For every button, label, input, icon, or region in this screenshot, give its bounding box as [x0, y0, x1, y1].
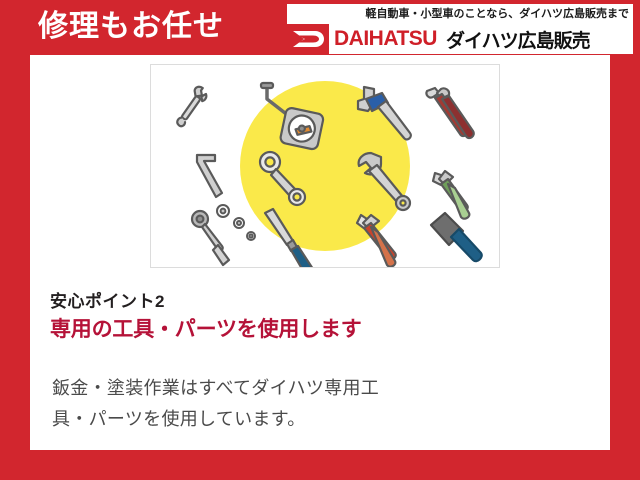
brand-block: 軽自動車・小型車のことなら、ダイハツ広島販売まで DAIHATSU ダイハツ広島… — [285, 4, 633, 54]
dealer-name: ダイハツ広島販売 — [446, 26, 590, 53]
socket-wrench-icon — [192, 211, 229, 265]
brand-logo-row: DAIHATSU ダイハツ広島販売 — [287, 24, 633, 54]
header-bar: 修理もお任せ 軽自動車・小型車のことなら、ダイハツ広島販売まで DAIHATSU… — [0, 0, 640, 57]
open-end-wrench-icon — [173, 85, 210, 129]
mallet-icon — [431, 213, 482, 261]
allen-key-icon — [197, 155, 222, 197]
tools-illustration — [150, 64, 500, 268]
point-label: 安心ポイント2 — [50, 287, 165, 312]
daihatsu-d-emblem-icon — [287, 24, 329, 54]
content-panel: 安心ポイント2 専用の工具・パーツを使用します 鈑金・塗装作業はすべてダイハツ専… — [30, 55, 610, 450]
long-nose-pliers-icon — [426, 88, 473, 138]
green-pliers-icon — [433, 171, 469, 219]
body-paragraph: 鈑金・塗装作業はすべてダイハツ専用工具・パーツを使用しています。 — [52, 373, 412, 435]
brand-tagline: 軽自動車・小型車のことなら、ダイハツ広島販売まで — [287, 4, 633, 24]
socket-heads-icon — [217, 205, 255, 240]
logo-wordmark: DAIHATSU — [334, 27, 437, 51]
headline-text: 専用の工具・パーツを使用します — [50, 317, 405, 342]
page-title: 修理もお任せ — [38, 7, 224, 47]
slide-page: 修理もお任せ 軽自動車・小型車のことなら、ダイハツ広島販売まで DAIHATSU… — [0, 0, 640, 480]
